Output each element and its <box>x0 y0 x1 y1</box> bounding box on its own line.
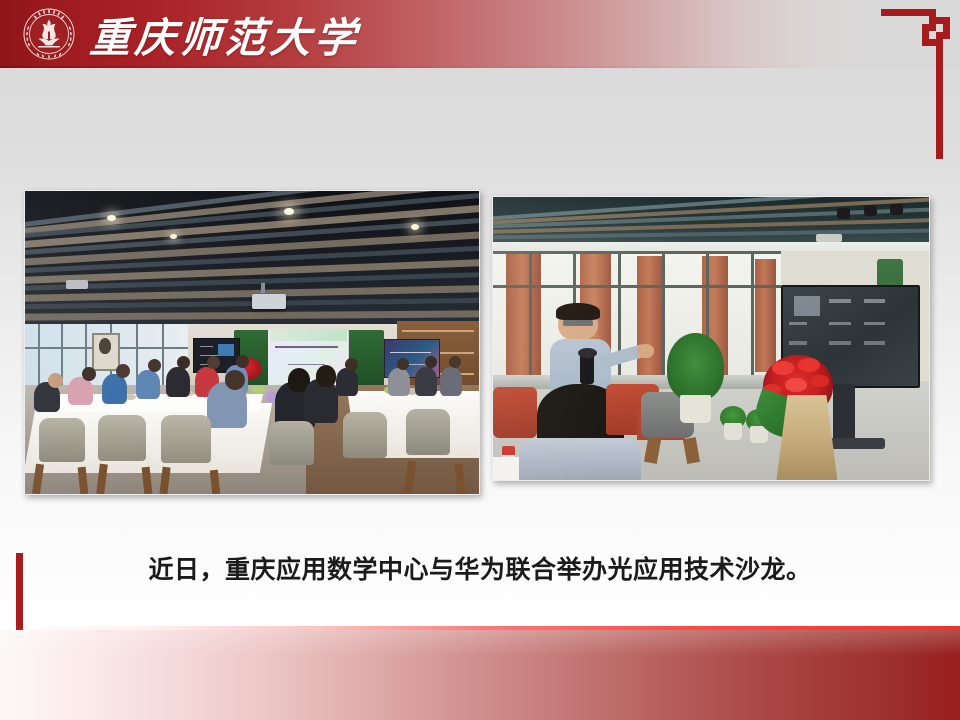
speaker-presentation-photo <box>492 196 930 481</box>
footer-gradient-band <box>0 630 960 720</box>
seminar-room-audience-photo <box>24 190 480 495</box>
slide-caption: 近日，重庆应用数学中心与华为联合举办光应用技术沙龙。 <box>0 550 960 586</box>
university-name: 重庆师范大学 <box>88 3 362 65</box>
university-seal-icon <box>22 7 76 61</box>
chinese-corner-ornament-top-right <box>881 9 953 159</box>
presentation-slide: 重庆师范大学 <box>0 0 960 720</box>
